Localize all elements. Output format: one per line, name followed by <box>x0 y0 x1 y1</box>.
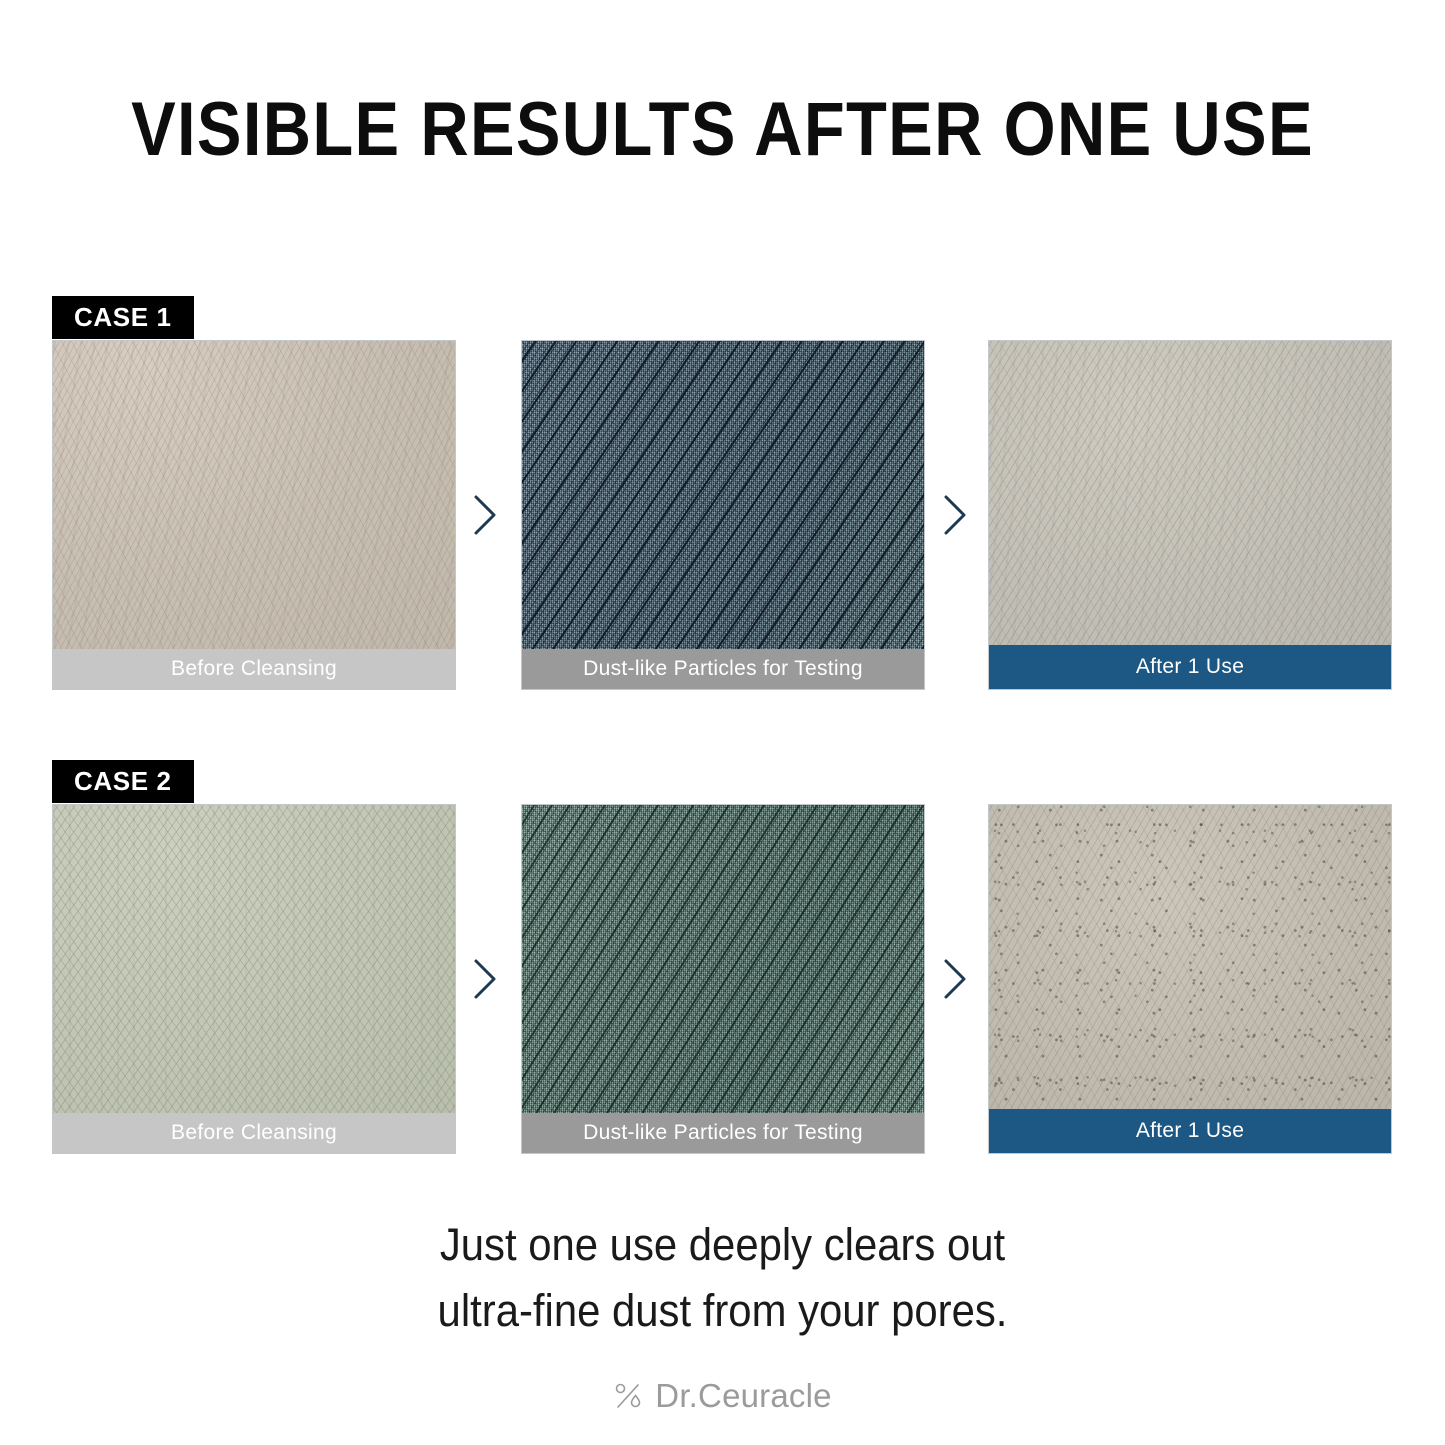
case-1-caption-after: After 1 Use <box>989 645 1391 689</box>
case-2-panel-before: Before Cleansing <box>52 804 456 1154</box>
percent-droplet-logo-icon <box>613 1381 643 1411</box>
case-1-caption-dust: Dust-like Particles for Testing <box>522 649 924 689</box>
skin-texture-warm <box>53 341 455 651</box>
case-2-badge: CASE 2 <box>52 760 194 803</box>
skin-texture-pores <box>989 805 1391 1111</box>
case-1-caption-before: Before Cleansing <box>53 649 455 689</box>
case-row-2: CASE 2 Before Cleansing Dust-like Partic… <box>0 760 1445 1160</box>
case-2-panel-after: After 1 Use <box>988 804 1392 1154</box>
case-2-caption-after: After 1 Use <box>989 1109 1391 1153</box>
brand-logo: Dr.Ceuracle <box>0 1377 1445 1415</box>
case-2-caption-dust: Dust-like Particles for Testing <box>522 1113 924 1153</box>
marketing-infographic: VISIBLE RESULTS AFTER ONE USE CASE 1 Bef… <box>0 0 1445 1445</box>
case-1-badge: CASE 1 <box>52 296 194 339</box>
case-2-image-before <box>53 805 455 1115</box>
tagline: Just one use deeply clears out ultra-fin… <box>51 1212 1395 1344</box>
case-1-panel-dust: Dust-like Particles for Testing <box>521 340 925 690</box>
tagline-line-2: ultra-fine dust from your pores. <box>51 1278 1395 1344</box>
case-2-panel-dust: Dust-like Particles for Testing <box>521 804 925 1154</box>
case-1-image-dust <box>522 341 924 651</box>
tagline-line-1: Just one use deeply clears out <box>51 1212 1395 1278</box>
skin-texture-green <box>53 805 455 1115</box>
case-1-image-after <box>989 341 1391 647</box>
case-2-caption-before: Before Cleansing <box>53 1113 455 1153</box>
chevron-right-icon <box>468 492 502 538</box>
skin-texture-cool <box>989 341 1391 647</box>
case-1-panel-after: After 1 Use <box>988 340 1392 690</box>
dust-texture-green <box>522 805 924 1115</box>
case-1-image-before <box>53 341 455 651</box>
chevron-right-icon <box>938 956 972 1002</box>
page-title: VISIBLE RESULTS AFTER ONE USE <box>87 86 1359 173</box>
case-1-panel-before: Before Cleansing <box>52 340 456 690</box>
case-2-image-after <box>989 805 1391 1111</box>
brand-name: Dr.Ceuracle <box>655 1377 831 1415</box>
case-2-image-dust <box>522 805 924 1115</box>
chevron-right-icon <box>938 492 972 538</box>
dust-texture-blue <box>522 341 924 651</box>
case-row-1: CASE 1 Before Cleansing Dust-like Partic… <box>0 296 1445 696</box>
chevron-right-icon <box>468 956 502 1002</box>
